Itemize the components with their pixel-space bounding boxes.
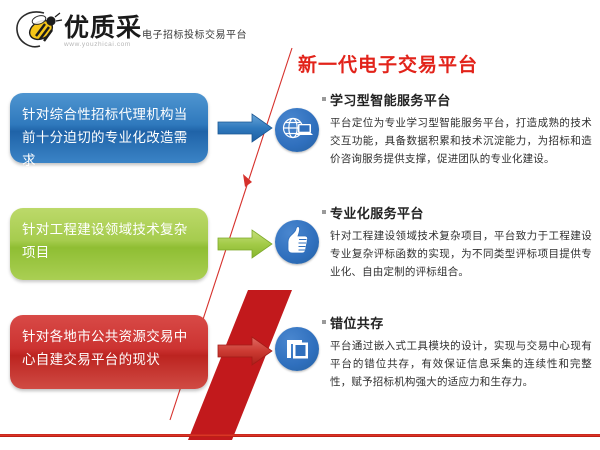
bee-logo-icon: [14, 8, 66, 52]
globe-laptop-icon: [275, 108, 319, 152]
icon-circle-2: [275, 220, 319, 264]
bottom-divider: [0, 434, 600, 437]
page-title: 新一代电子交易平台: [298, 50, 478, 77]
brand-subtitle: 电子招标投标交易平台: [142, 26, 247, 41]
right-block-3: 错位共存 平台通过嵌入式工具模块的设计，实现与交易中心现有平台的错位共存，有效保…: [330, 313, 592, 391]
right-block-3-heading: 错位共存: [330, 313, 592, 332]
brand-logo: 优质采 电子招标投标交易平台 www.youzhicai.com: [14, 8, 229, 54]
thumbs-up-icon: [275, 220, 319, 264]
brand-url: www.youzhicai.com: [64, 41, 131, 48]
right-block-2: 专业化服务平台 针对工程建设领域技术复杂项目，平台致力于工程建设专业复杂评标函数…: [330, 203, 592, 281]
icon-circle-3: [275, 327, 319, 371]
right-block-1-body: 平台定位为专业学习型智能服务平台，打造成熟的技术交互功能，具备数据积累和技术沉淀…: [330, 114, 592, 168]
overlapping-windows-icon: [275, 327, 319, 371]
bullet-square-icon: [322, 320, 326, 324]
right-block-2-body: 针对工程建设领域技术复杂项目，平台致力于工程建设专业复杂评标函数的实现，为不同类…: [330, 227, 592, 281]
bullet-square-icon: [322, 210, 326, 214]
red-arrow-icon: [216, 334, 274, 368]
slide-canvas: 优质采 电子招标投标交易平台 www.youzhicai.com 新一代电子交易…: [0, 0, 600, 450]
brand-name: 优质采: [64, 14, 142, 42]
right-block-2-heading: 专业化服务平台: [330, 203, 592, 222]
green-arrow-icon: [216, 227, 274, 261]
blue-arrow-icon: [216, 111, 274, 145]
left-box-blue: 针对综合性招标代理机构当前十分迫切的专业化改造需求: [10, 93, 208, 163]
right-block-3-body: 平台通过嵌入式工具模块的设计，实现与交易中心现有平台的错位共存，有效保证信息采集…: [330, 337, 592, 391]
left-box-green: 针对工程建设领域技术复杂项目: [10, 208, 208, 280]
right-block-1-heading: 学习型智能服务平台: [330, 90, 592, 109]
left-box-red: 针对各地市公共资源交易中心自建交易平台的现状: [10, 315, 208, 389]
icon-circle-1: [275, 108, 319, 152]
right-block-1: 学习型智能服务平台 平台定位为专业学习型智能服务平台，打造成熟的技术交互功能，具…: [330, 90, 592, 168]
bullet-square-icon: [322, 97, 326, 101]
